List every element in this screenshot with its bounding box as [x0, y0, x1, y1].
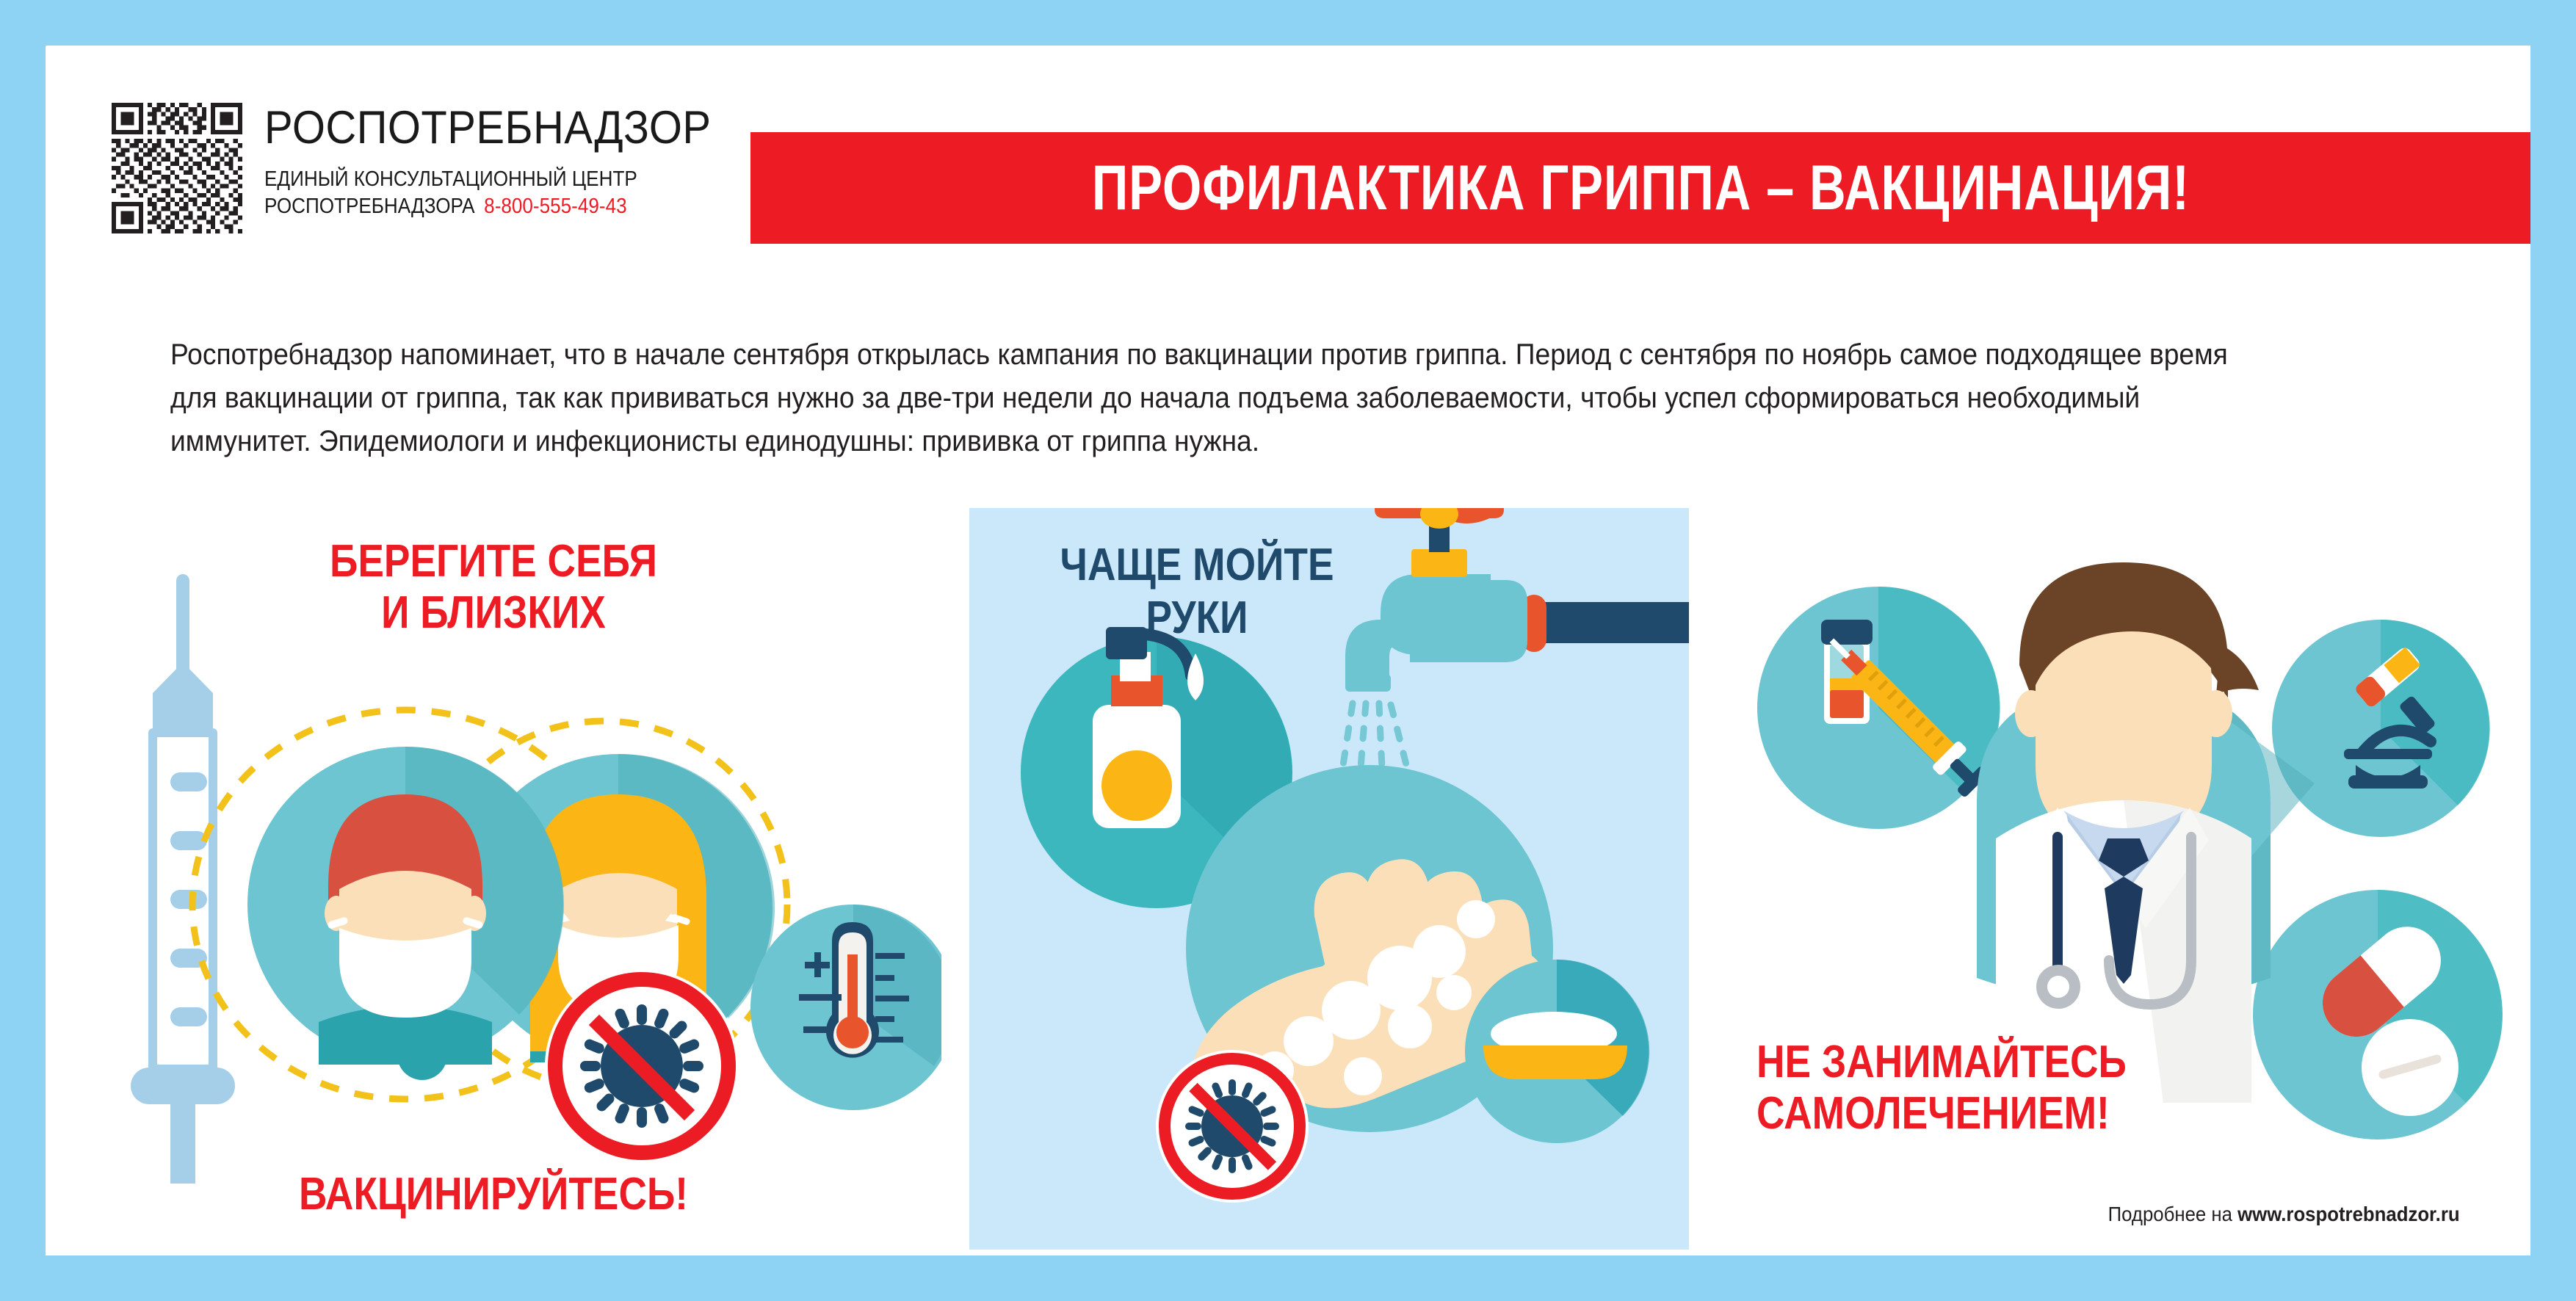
logo-subtitle-line1: ЕДИНЫЙ КОНСУЛЬТАЦИОННЫЙ ЦЕНТР: [264, 166, 701, 193]
panel1-title-line2: И БЛИЗКИХ: [297, 587, 689, 639]
panel1-footer-label: ВАКЦИНИРУЙТЕСЬ!: [272, 1169, 714, 1220]
vaccine-vial-icon: [1757, 587, 2000, 829]
qr-code-icon: [112, 103, 242, 233]
panel2-title-line2: РУКИ: [1032, 592, 1361, 645]
banner-title: ПРОФИЛАКТИКА ГРИППА – ВАКЦИНАЦИЯ!: [1092, 152, 2190, 225]
microscope-icon: [2272, 620, 2490, 837]
intro-paragraph: Роспотребнадзор напоминает, что в начале…: [170, 333, 2281, 463]
panels-row: БЕРЕГИТЕ СЕБЯ И БЛИЗКИХ ВАКЦИНИРУЙТЕСЬ!: [46, 508, 2530, 1250]
poster-header: РОСПОТРЕБНАДЗОР ЕДИНЫЙ КОНСУЛЬТАЦИОННЫЙ …: [46, 46, 2530, 236]
panel1-footer: ВАКЦИНИРУЙТЕСЬ!: [236, 1169, 750, 1220]
soap-bar-icon: [1465, 960, 1649, 1143]
syringe-icon: [131, 574, 235, 1184]
thermometer-icon: [750, 905, 941, 1110]
poster-canvas: РОСПОТРЕБНАДЗОР ЕДИНЫЙ КОНСУЛЬТАЦИОННЫЙ …: [46, 46, 2530, 1255]
logo-subtitle-line2: РОСПОТРЕБНАДЗОРА: [264, 195, 475, 218]
panel1-title-line1: БЕРЕГИТЕ СЕБЯ: [297, 536, 689, 587]
panel3-footer-line2: САМОЛЕЧЕНИЕМ!: [1756, 1088, 2237, 1139]
logo-text-block: РОСПОТРЕБНАДЗОР ЕДИНЫЙ КОНСУЛЬТАЦИОННЫЙ …: [264, 103, 750, 220]
no-virus-icon-2: [1156, 1050, 1309, 1203]
brand-name: РОСПОТРЕБНАДЗОР: [264, 104, 712, 151]
panel3-footer-line1: НЕ ЗАНИМАЙТЕСЬ: [1756, 1037, 2237, 1088]
panel2-title-line1: ЧАЩЕ МОЙТЕ: [1032, 539, 1361, 592]
rospotrebnadzor-logo-block: РОСПОТРЕБНАДЗОР ЕДИНЫЙ КОНСУЛЬТАЦИОННЫЙ …: [112, 103, 750, 233]
panel3-footer: НЕ ЗАНИМАЙТЕСЬ САМОЛЕЧЕНИЕМ!: [1756, 1037, 2315, 1139]
accent-dot: [397, 1030, 447, 1080]
panel-selfmedication: НЕ ЗАНИМАЙТЕСЬ САМОЛЕЧЕНИЕМ!: [1734, 508, 2530, 1250]
panel2-title: ЧАЩЕ МОЙТЕ РУКИ: [1006, 539, 1388, 645]
panel-handwashing: ЧАЩЕ МОЙТЕ РУКИ: [969, 508, 1689, 1250]
panel1-title: БЕРЕГИТЕ СЕБЯ И БЛИЗКИХ: [266, 536, 721, 639]
header-banner: ПРОФИЛАКТИКА ГРИППА – ВАКЦИНАЦИЯ!: [750, 132, 2530, 244]
panel-vaccination: БЕРЕГИТЕ СЕБЯ И БЛИЗКИХ ВАКЦИНИРУЙТЕСЬ!: [119, 508, 941, 1250]
footer-site-url[interactable]: www.rospotrebnadzor.ru: [2238, 1203, 2460, 1225]
hotline-phone[interactable]: 8-800-555-49-43: [484, 195, 626, 218]
no-virus-icon: [545, 969, 739, 1163]
logo-subtitle-line2-row: РОСПОТРЕБНАДЗОРА8-800-555-49-43: [264, 193, 701, 220]
footer-note-prefix: Подробнее на: [2108, 1203, 2237, 1225]
footer-note: Подробнее на www.rospotrebnadzor.ru: [2108, 1203, 2460, 1226]
